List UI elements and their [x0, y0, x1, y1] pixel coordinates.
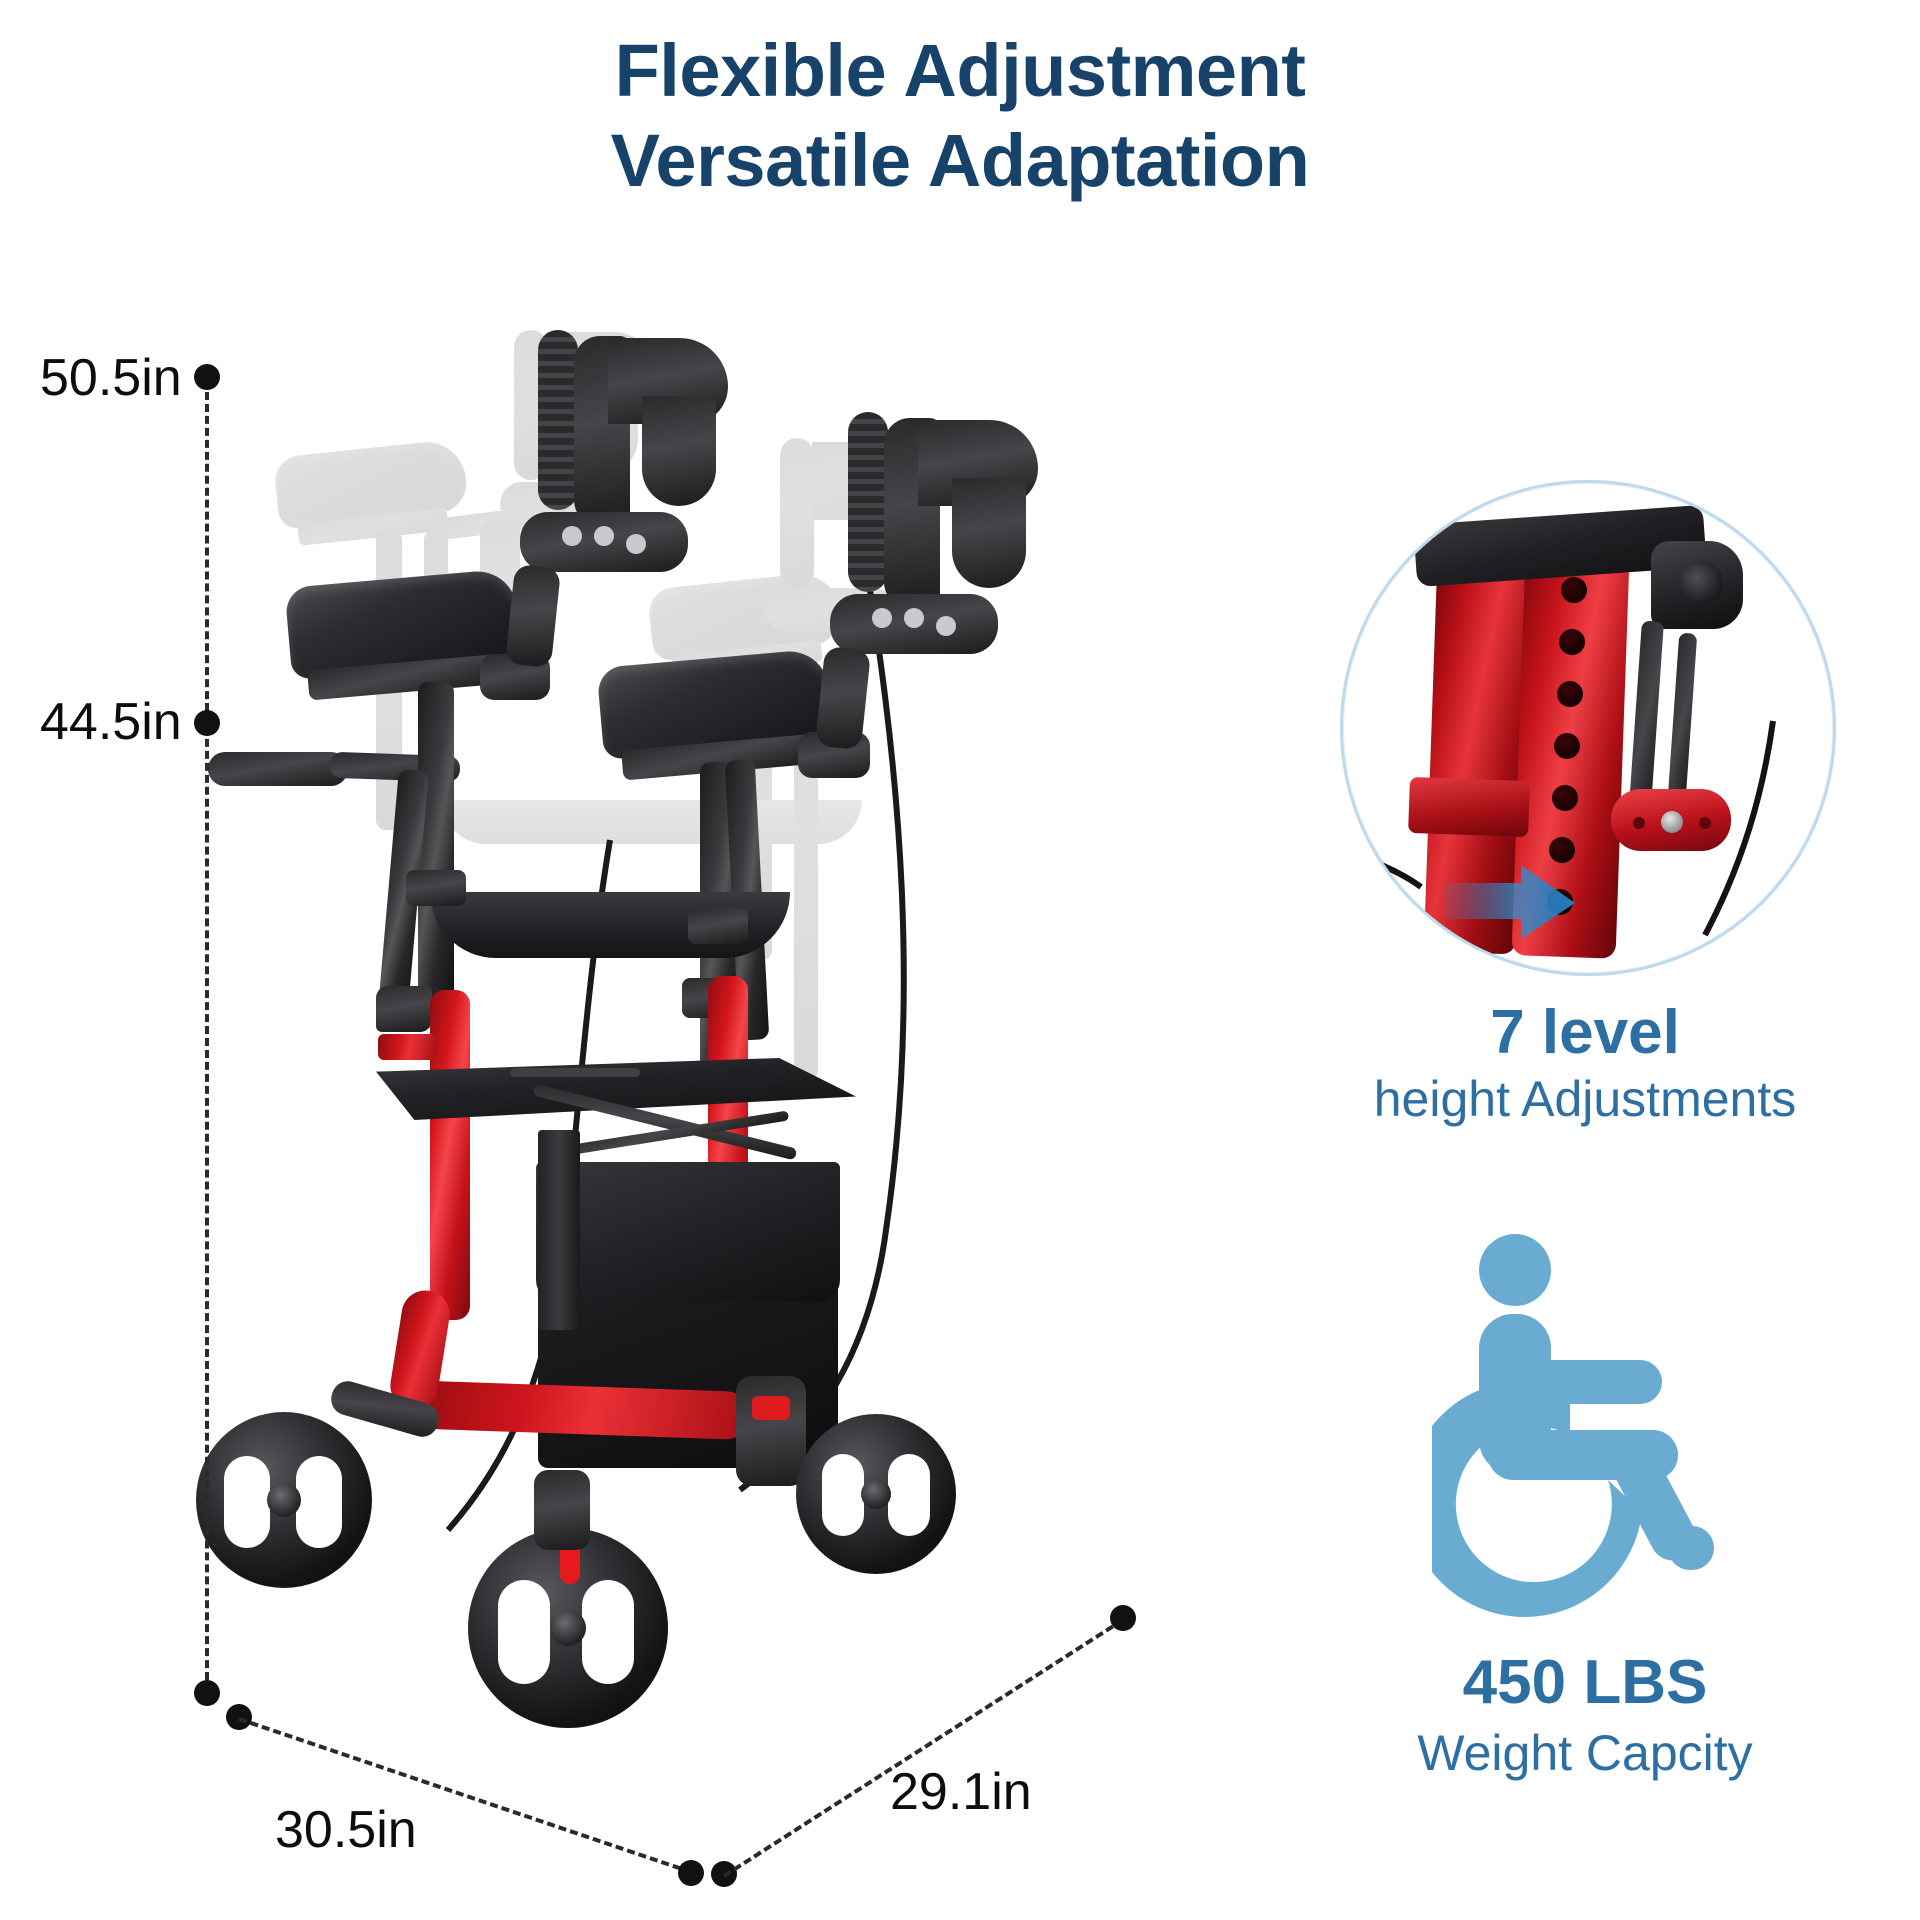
bag-flap: [536, 1162, 840, 1302]
push-handle-left: [208, 752, 348, 786]
inset-cables: [1343, 483, 1833, 973]
red-leg-left: [430, 990, 470, 1320]
clamp-right: [688, 908, 748, 944]
dim-dot-width-end: [1110, 1605, 1136, 1631]
dimension-label-max-height: 50.5in: [40, 348, 182, 408]
wheel-rear-left: [196, 1412, 372, 1588]
adjust-direction-arrow-icon: [1443, 861, 1583, 951]
dim-dot-bottom-left: [194, 1680, 220, 1706]
height-adjust-headline: 7 level: [1205, 1000, 1920, 1065]
bag-strap: [538, 1130, 580, 1330]
dim-line-vertical: [205, 392, 209, 1692]
upright-tube-left: [418, 682, 454, 1002]
dim-dot-mid: [194, 710, 220, 736]
infographic-canvas: Flexible Adjustment Versatile Adaptation: [0, 0, 1920, 1920]
dimension-label-width: 29.1in: [890, 1762, 1032, 1822]
dimension-label-depth: 30.5in: [275, 1800, 417, 1860]
wheelchair-accessibility-icon: [1432, 1230, 1762, 1630]
height-adjustment-detail-inset: [1340, 480, 1836, 976]
adjust-knob: [376, 986, 432, 1032]
dim-dot-depth-end: [678, 1860, 704, 1886]
dim-dot-top: [194, 364, 220, 390]
wheel-rear-right: [796, 1414, 956, 1574]
brake-lever-left: [490, 330, 750, 730]
title-line-1: Flexible Adjustment: [0, 26, 1920, 116]
brake-lever-right: [800, 412, 1060, 812]
weight-capacity-subline: Weight Capcity: [1205, 1726, 1920, 1781]
page-title: Flexible Adjustment Versatile Adaptation: [0, 26, 1920, 207]
wheel-front-center: [468, 1528, 668, 1728]
height-adjust-subline: height Adjustments: [1205, 1072, 1920, 1127]
product-illustration: [180, 330, 1240, 1890]
dimension-label-min-height: 44.5in: [40, 692, 182, 752]
clamp-left: [406, 870, 466, 906]
title-line-2: Versatile Adaptation: [0, 116, 1920, 206]
weight-capacity-headline: 450 LBS: [1205, 1650, 1920, 1715]
